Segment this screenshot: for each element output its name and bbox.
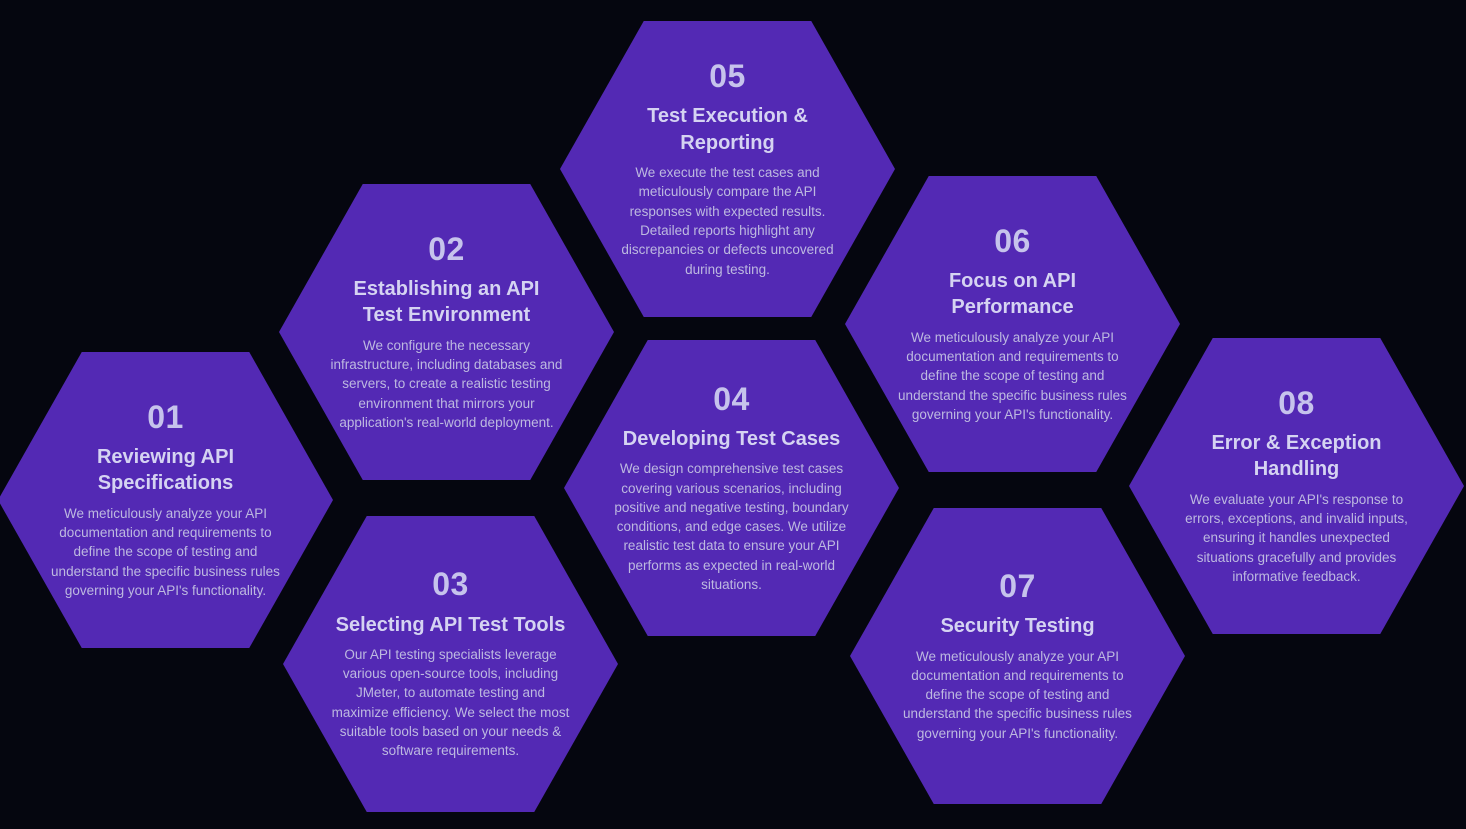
hex-step-title: Establishing an API Test Environment <box>332 276 562 329</box>
hex-step-description: We execute the test cases and meticulous… <box>610 163 846 279</box>
hex-step-number: 05 <box>709 59 746 94</box>
hex-step-04[interactable]: 04 Developing Test Cases We design compr… <box>564 340 899 636</box>
hex-step-number: 02 <box>428 232 465 267</box>
hex-step-title: Focus on API Performance <box>898 268 1128 321</box>
hex-step-number: 08 <box>1278 386 1315 421</box>
hex-step-description: Our API testing specialists leverage var… <box>327 645 574 761</box>
hex-step-02[interactable]: 02 Establishing an API Test Environment … <box>279 184 614 480</box>
hex-step-03[interactable]: 03 Selecting API Test Tools Our API test… <box>283 516 618 812</box>
hex-step-description: We meticulously analyze your API documen… <box>891 328 1135 424</box>
hex-step-number: 03 <box>432 567 469 602</box>
hex-step-number: 07 <box>999 569 1036 604</box>
hex-step-title: Test Execution & Reporting <box>613 103 843 156</box>
hex-step-title: Reviewing API Specifications <box>51 444 281 497</box>
hex-step-description: We design comprehensive test cases cover… <box>608 459 855 594</box>
hex-step-description: We meticulously analyze your API documen… <box>896 647 1140 743</box>
hex-step-description: We evaluate your API's response to error… <box>1179 490 1415 586</box>
hex-step-number: 04 <box>713 382 750 417</box>
hex-step-title: Security Testing <box>940 613 1094 639</box>
hex-step-description: We meticulously analyze your API documen… <box>44 504 288 600</box>
hex-step-title: Developing Test Cases <box>623 426 840 452</box>
hex-step-05[interactable]: 05 Test Execution & Reporting We execute… <box>560 21 895 317</box>
hex-step-06[interactable]: 06 Focus on API Performance We meticulou… <box>845 176 1180 472</box>
hex-step-description: We configure the necessary infrastructur… <box>329 336 565 432</box>
hex-step-number: 06 <box>994 224 1031 259</box>
hex-step-title: Error & Exception Handling <box>1182 430 1412 483</box>
hex-step-title: Selecting API Test Tools <box>336 612 566 638</box>
hex-step-01[interactable]: 01 Reviewing API Specifications We metic… <box>0 352 333 648</box>
hexagon-infographic-board: 01 Reviewing API Specifications We metic… <box>0 0 1466 829</box>
hex-step-07[interactable]: 07 Security Testing We meticulously anal… <box>850 508 1185 804</box>
hex-step-08[interactable]: 08 Error & Exception Handling We evaluat… <box>1129 338 1464 634</box>
hex-step-number: 01 <box>147 400 184 435</box>
